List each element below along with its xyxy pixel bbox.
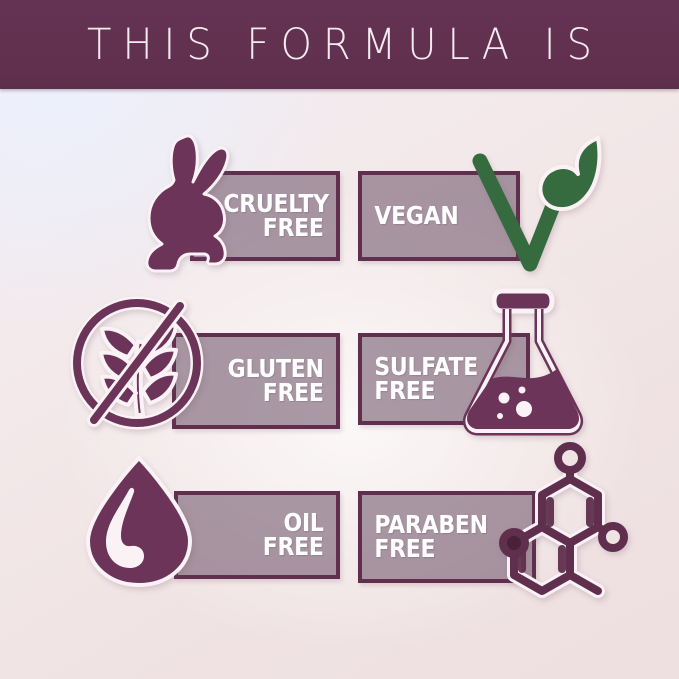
vegan-label-line1: VEGAN <box>374 201 458 230</box>
sulfate-free-label-line2: FREE <box>374 376 435 405</box>
cruelty-free-label-line2: FREE <box>263 213 324 242</box>
flask-icon <box>460 285 585 437</box>
badge-vegan: VEGAN <box>330 118 630 278</box>
rabbit-icon <box>138 130 248 275</box>
formula-claims-poster: THIS FORMULA IS CRUELTY FREE VEGAN <box>0 0 679 679</box>
molecule-icon <box>470 449 620 597</box>
oil-free-label-box: OIL FREE <box>174 491 340 579</box>
oil-free-label: OIL FREE <box>197 511 336 559</box>
gluten-free-label-line2: FREE <box>263 378 324 407</box>
no-wheat-icon <box>70 293 205 433</box>
header-banner: THIS FORMULA IS <box>0 0 679 89</box>
leaf-check-icon <box>470 131 605 277</box>
badge-paraben-free: PARABEN FREE <box>330 449 630 609</box>
droplet-icon <box>80 454 198 589</box>
gluten-free-label: GLUTEN FREE <box>195 357 336 405</box>
badge-sulfate-free: SULFATE FREE <box>330 285 630 445</box>
page-title: THIS FORMULA IS <box>76 20 603 69</box>
badge-grid: CRUELTY FREE VEGAN <box>0 89 679 679</box>
oil-free-label-line2: FREE <box>263 532 324 561</box>
badge-oil-free: OIL FREE <box>40 449 340 609</box>
paraben-free-label-line2: FREE <box>374 534 435 563</box>
badge-gluten-free: GLUTEN FREE <box>40 285 340 445</box>
badge-cruelty-free: CRUELTY FREE <box>40 118 340 278</box>
